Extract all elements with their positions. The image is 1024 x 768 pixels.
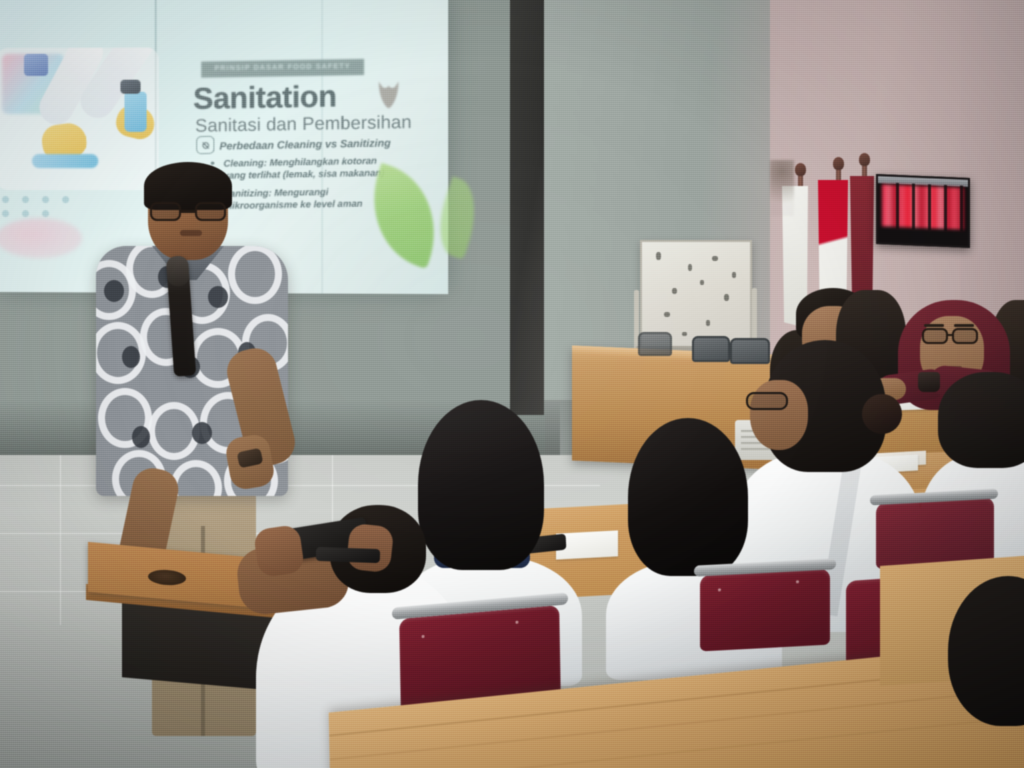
decorative-dot-row-2: [2, 210, 49, 217]
presenter-eyeglasses: [150, 202, 226, 221]
black-hijab: [628, 418, 748, 576]
spray-nozzle-icon: [120, 80, 140, 94]
seminar-room-photo: Prinsip Dasar Food Safety Sanitation San…: [0, 0, 1024, 768]
led-sign-glow: [882, 184, 964, 229]
wall-right-far: [960, 0, 1024, 330]
cleaning-wipe-icon: [32, 154, 98, 168]
decorative-dot-row-1: [2, 196, 69, 203]
spray-bottle-icon: [124, 92, 146, 132]
cleaning-bottle-icon: [24, 54, 48, 76]
flagpole-finial-2: [833, 157, 844, 170]
slide-eyebrow-badge: Prinsip Dasar Food Safety: [201, 59, 364, 78]
tulip-logo-icon: [375, 79, 402, 109]
flagpole-finial-3: [859, 153, 870, 166]
presenter-mouth: [180, 230, 202, 236]
red-led-running-text-sign: [876, 174, 970, 248]
eyeglasses-right-lens: [952, 328, 978, 344]
hair: [938, 372, 1024, 468]
eyeglasses-bridge: [946, 334, 954, 336]
sparkle-clean-icon: [196, 136, 214, 154]
hand-left: [253, 524, 305, 578]
eyeglasses-left-lens: [922, 328, 948, 344]
tablet-on-podium: [316, 547, 380, 563]
conference-mic-base-3: [638, 332, 672, 356]
slide-section-heading: Perbedaan Cleaning vs Sanitizing: [219, 137, 390, 152]
dried-plant-decoration: [770, 160, 794, 216]
flagpole-finial-1: [795, 163, 806, 176]
dark-column-edge: [510, 0, 544, 415]
eyeglasses: [746, 392, 788, 410]
conference-mic-base-1: [692, 336, 730, 362]
maroon-chair-2: [700, 569, 830, 652]
slide-subtitle: Sanitasi dan Pembersihan: [195, 112, 412, 137]
slide-title: Sanitation: [193, 80, 336, 117]
hair-bun: [862, 394, 902, 434]
decorative-blob: [0, 218, 82, 258]
